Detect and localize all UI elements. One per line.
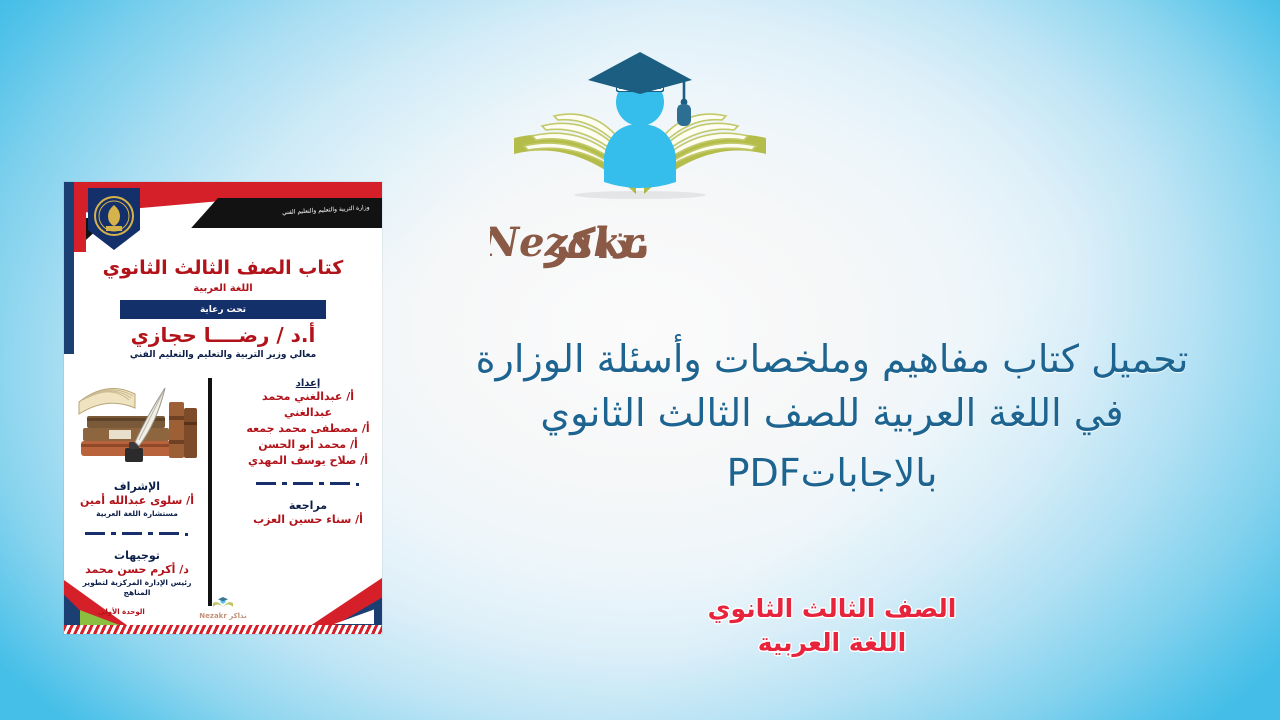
cover-minister-name: أ.د / رضــــا حجازي: [64, 323, 382, 347]
cover-review-heading: مراجعة: [244, 499, 372, 512]
cover-minister-role: معالي وزير التربية والتعليم والتعليم الف…: [64, 350, 382, 360]
cover-watermark-text: نذاكر Nezakr: [199, 612, 246, 620]
cover-prepared-name: أ/ محمد أبو الحسن: [244, 437, 372, 453]
cover-divider: [208, 378, 212, 606]
subject-label: اللغة العربية: [432, 626, 1232, 660]
cover-credits-right: إعداد أ/ عبدالغني محمد عبدالغني أ/ مصطفى…: [244, 378, 372, 528]
cover-prepared-name: أ/ صلاح يوسف المهدي: [244, 453, 372, 469]
cover-credits-left: الإشراف أ/ سلوى عبدالله أمين مستشارة الل…: [70, 372, 204, 598]
cover-guidance-name: د/ أكرم حسن محمد: [70, 562, 204, 578]
cover-prepared-name: أ/ مصطفى محمد جمعه: [244, 421, 372, 437]
cover-review-name: أ/ سناء حسين العزب: [244, 512, 372, 528]
nezakr-wordmark: Nezakr نذاكر: [490, 210, 790, 272]
book-cover-thumbnail[interactable]: وزارة التربية والتعليم والتعليم الفني كت…: [64, 182, 382, 634]
graduation-book-logo-icon: [506, 46, 774, 216]
page-title-line-1: تحميل كتاب مفاهيم وملخصات وأسئلة الوزارة: [432, 332, 1232, 386]
egypt-emblem-icon: [88, 188, 140, 250]
cover-supervision-name: أ/ سلوى عبدالله أمين: [70, 493, 204, 509]
cover-title: كتاب الصف الثالث الثانوي: [64, 256, 382, 280]
cover-dash-divider: [85, 528, 189, 537]
page-title: تحميل كتاب مفاهيم وملخصات وأسئلة الوزارة…: [432, 332, 1232, 500]
cover-supervision-heading: الإشراف: [70, 480, 204, 493]
page-title-line-3: بالاجاباتPDF: [432, 446, 1232, 500]
cover-dash-divider: [256, 478, 360, 487]
watermark-book-icon: [212, 597, 234, 611]
cover-patron-label: تحت رعاية: [200, 305, 246, 315]
cover-supervision-role: مستشارة اللغة العربية: [70, 509, 204, 519]
cover-prepared-heading: إعداد: [244, 378, 372, 389]
cover-prepared-name: أ/ عبدالغني محمد عبدالغني: [244, 389, 372, 421]
cover-patron-bar: تحت رعاية: [120, 300, 326, 319]
page-subtitle: الصف الثالث الثانوي اللغة العربية: [432, 592, 1232, 660]
page-title-line-2: في اللغة العربية للصف الثالث الثانوي: [432, 386, 1232, 440]
cover-subject: اللغة العربية: [64, 283, 382, 294]
svg-text:نذاكر: نذاكر: [543, 219, 650, 269]
grade-label: الصف الثالث الثانوي: [432, 592, 1232, 626]
cover-guidance-heading: توجيهات: [70, 549, 204, 562]
cover-watermark: نذاكر Nezakr: [64, 597, 382, 620]
books-quill-illustration: [73, 372, 201, 468]
